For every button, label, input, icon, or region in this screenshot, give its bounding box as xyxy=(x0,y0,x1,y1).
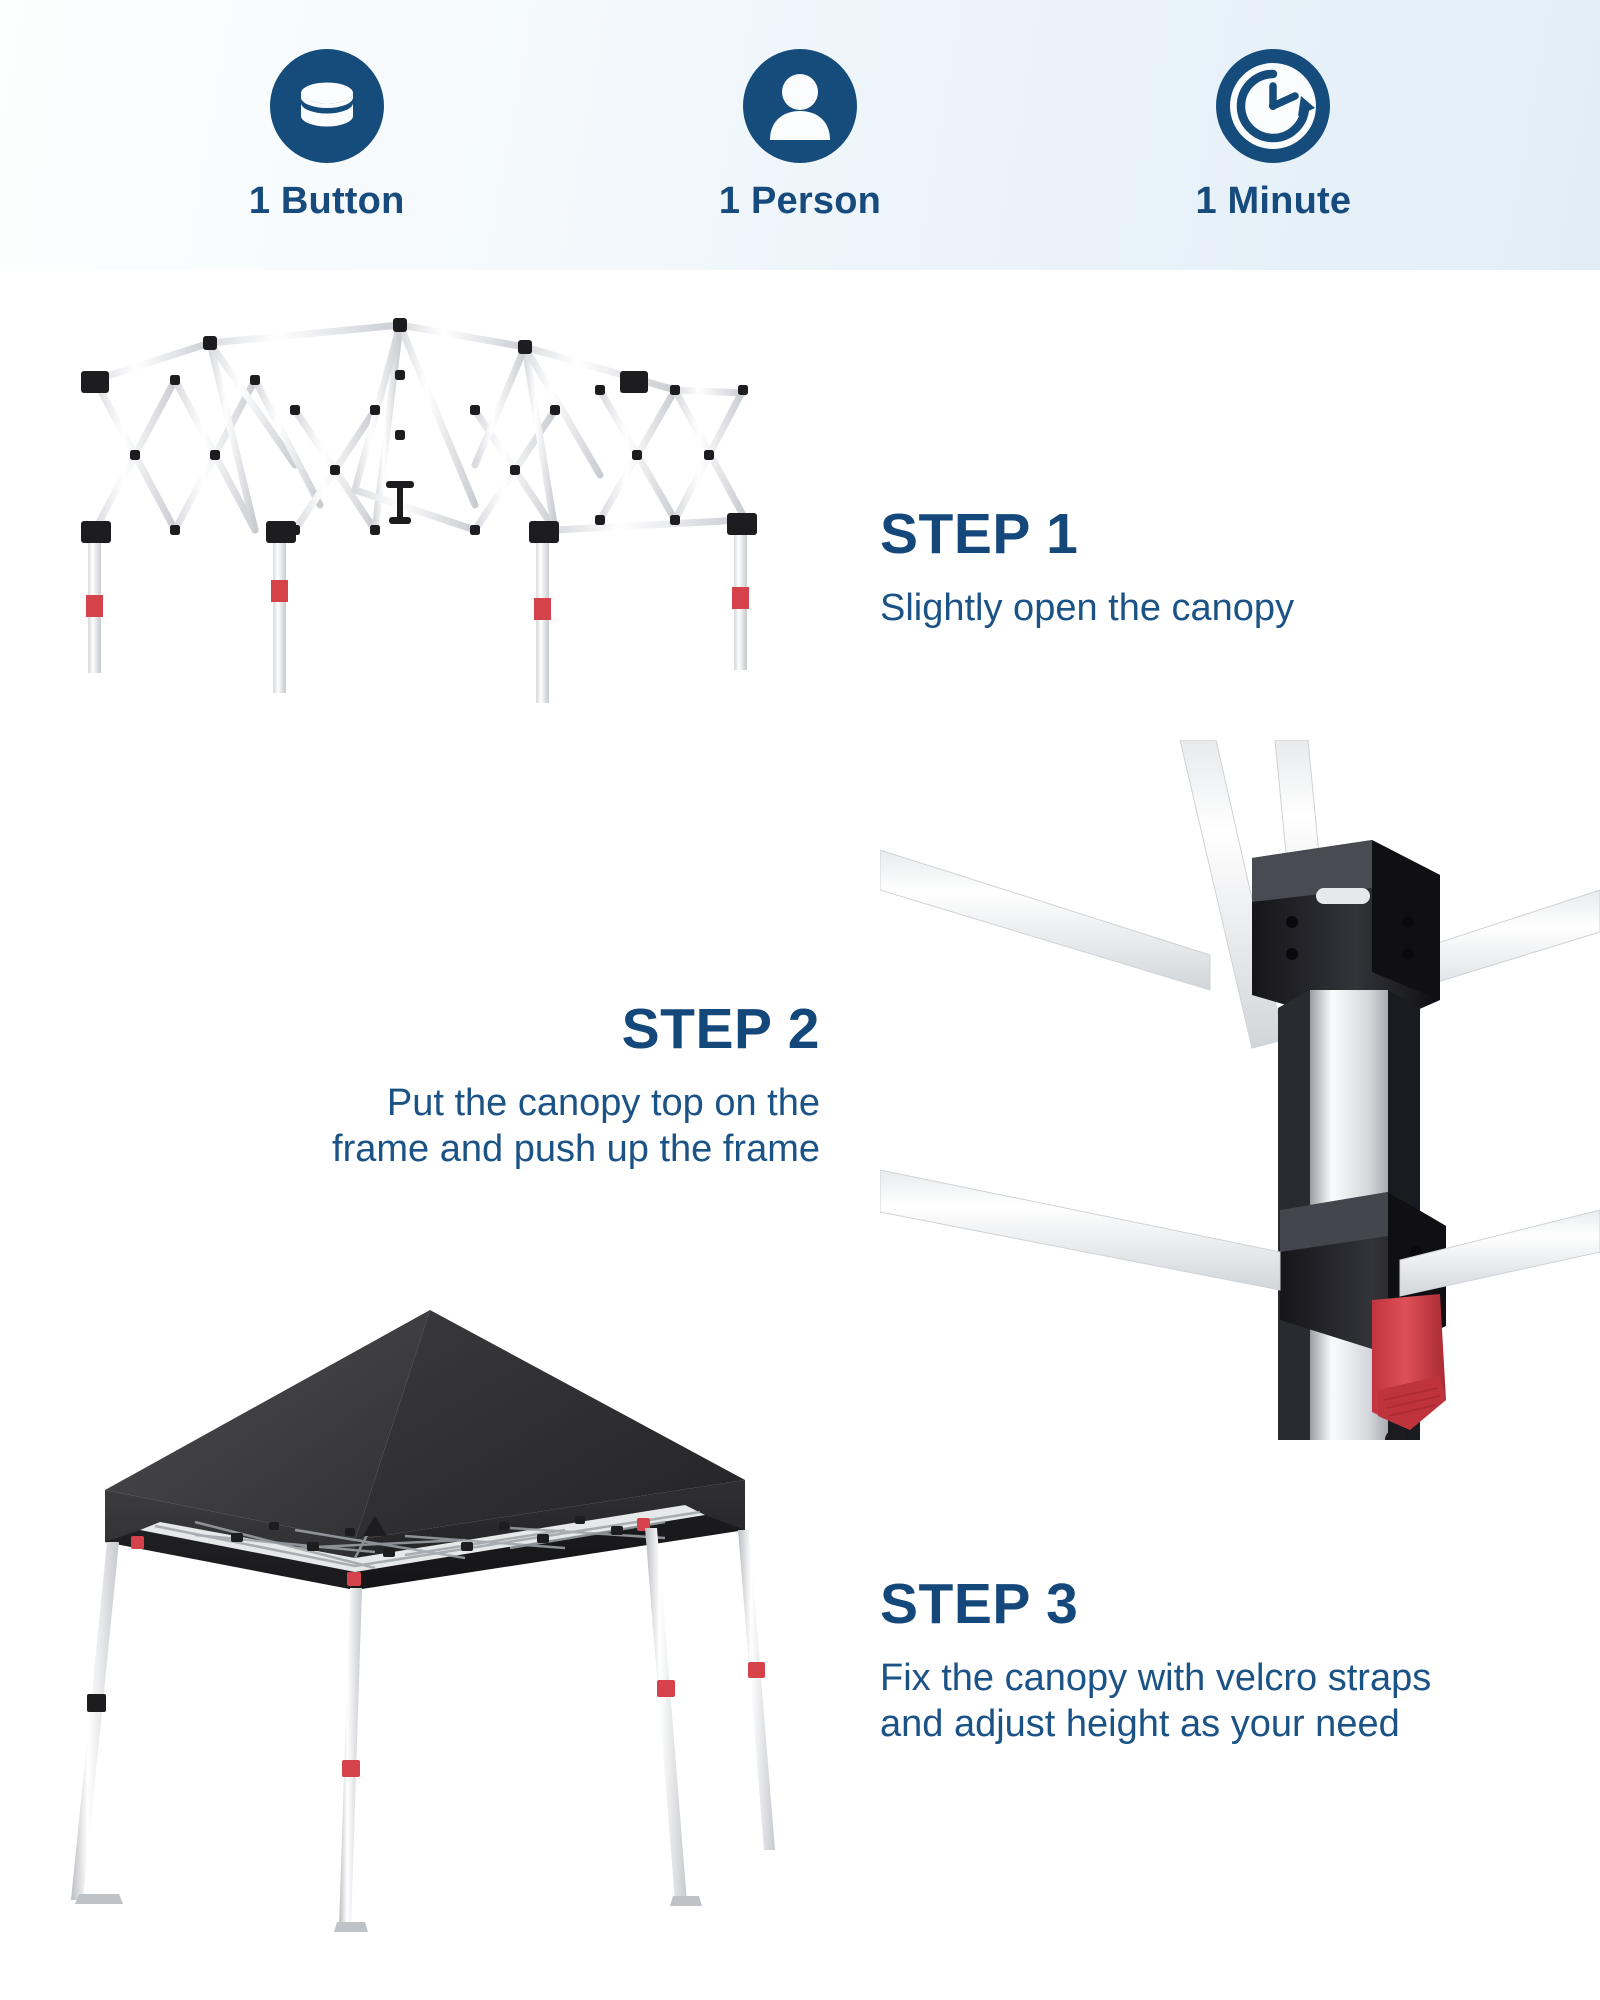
feature-item-minute: 1 Minute xyxy=(1133,48,1413,223)
figure-assembled-black-canopy xyxy=(45,1290,805,1990)
step-2-body-line-2: frame and push up the frame xyxy=(140,1126,820,1172)
infographic-page: 1 Button 1 Person xyxy=(0,0,1600,2000)
step-1-body: Slightly open the canopy xyxy=(880,585,1540,631)
figure-canopy-frame-partially-open xyxy=(55,315,775,815)
step-2-text-block: STEP 2 Put the canopy top on the frame a… xyxy=(140,1000,820,1173)
step-3-body-line-1: Fix the canopy with velcro straps xyxy=(880,1655,1580,1701)
step-3-heading: STEP 3 xyxy=(880,1575,1580,1635)
step-1-heading: STEP 1 xyxy=(880,505,1540,565)
button-puck-icon xyxy=(269,48,385,164)
clock-refresh-icon xyxy=(1215,48,1331,164)
feature-label-person: 1 Person xyxy=(719,180,881,223)
feature-label-button: 1 Button xyxy=(249,180,405,223)
step-3-body-line-2: and adjust height as your need xyxy=(880,1701,1580,1747)
feature-item-person: 1 Person xyxy=(660,48,940,223)
feature-label-minute: 1 Minute xyxy=(1195,180,1351,223)
step-1-text-block: STEP 1 Slightly open the canopy xyxy=(880,505,1540,631)
person-icon xyxy=(742,48,858,164)
step-3-text-block: STEP 3 Fix the canopy with velcro straps… xyxy=(880,1575,1580,1748)
feature-item-button: 1 Button xyxy=(187,48,467,223)
step-2-heading: STEP 2 xyxy=(140,1000,820,1060)
feature-header-band: 1 Button 1 Person xyxy=(0,0,1600,270)
step-2-body-line-1: Put the canopy top on the xyxy=(140,1080,820,1126)
figure-corner-joint-bracket-closeup xyxy=(880,740,1600,1440)
